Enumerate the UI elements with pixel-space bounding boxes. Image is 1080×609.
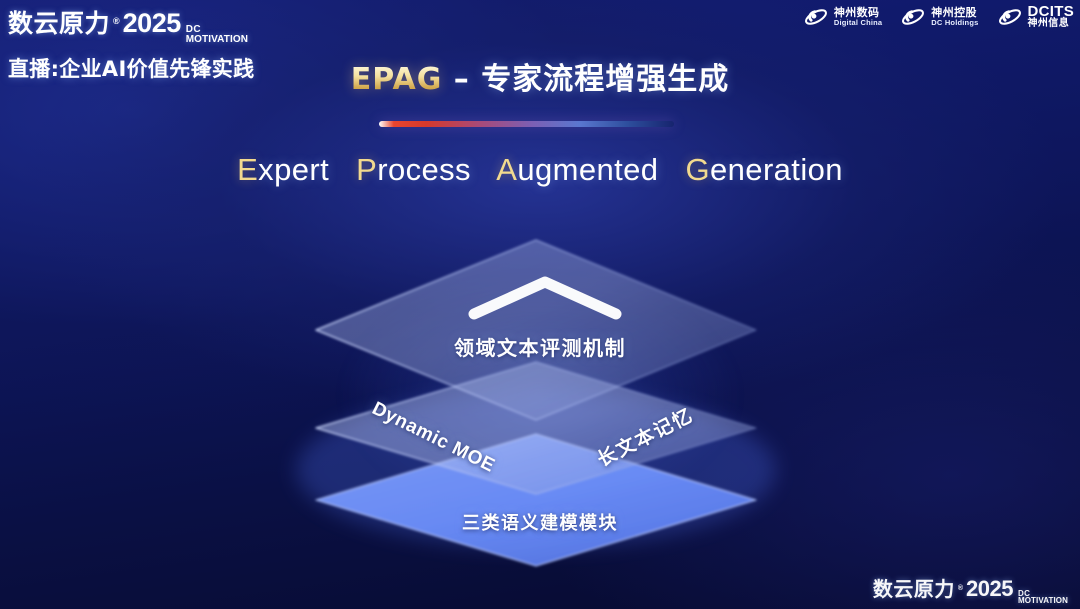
swirl-icon [997,4,1023,30]
brand-year: 2025 [966,576,1013,602]
subtitle-word-augmented: Augmented [496,152,658,187]
brand-name-cn: 数云原力 [873,573,955,602]
subtitle-cap-g: G [686,152,711,187]
layer-bottom[interactable] [316,434,756,566]
layer-bottom-surface [316,434,756,566]
partner-brand-dcits: DCITS [1028,4,1075,19]
title-acronym: EPAG [351,62,443,97]
chevron-up-icon [474,282,616,314]
partner-text: 神州控股 DC Holdings [931,7,978,26]
brand-lockup: 数云原力 ® 2025 DC MOTIVATION [8,4,308,44]
brand-dc-line2: MOTIVATION [186,35,248,45]
title-chinese: 专家流程增强生成 [481,62,729,97]
layer-top[interactable] [316,240,756,420]
partner-name-en: Digital China [834,19,882,27]
partner-name-cn: 神州信息 [1028,19,1075,30]
layer-middle-right-label: 长文本记忆 [592,400,698,472]
subtitle-cap-e: E [237,152,258,187]
subtitle-expansion: Expert Process Augmented Generation [0,152,1080,188]
subtitle-rest-process: rocess [377,152,471,187]
brand-year: 2025 [123,8,181,39]
subtitle-cap-a: A [496,152,517,187]
brand-name-cn: 数云原力 [8,4,110,40]
swirl-icon [803,4,829,30]
layer-bottom-label: 三类语义建模模块 [0,509,1080,535]
swirl-icon [900,4,926,30]
title-dash: – [442,62,481,97]
partner-logo-bar: 神州数码 Digital China 神州控股 DC Holdings [803,4,1074,30]
layer-top-label: 领域文本评测机制 [0,332,1080,361]
partner-text: DCITS 神州信息 [1028,4,1075,30]
brand-dc-motivation: DC MOTIVATION [186,25,248,44]
partner-logo-dcits: DCITS 神州信息 [997,4,1075,30]
space [667,152,676,187]
registered-mark: ® [113,16,120,26]
space [338,152,347,187]
subtitle-cap-p: P [356,152,377,187]
partner-text: 神州数码 Digital China [834,7,882,26]
subtitle-rest-expert: xpert [258,152,329,187]
subtitle-rest-generation: eneration [710,152,843,187]
gradient-divider [379,121,674,127]
partner-logo-digital-china: 神州数码 Digital China [803,4,882,30]
partner-logo-dc-holdings: 神州控股 DC Holdings [900,4,978,30]
brand-dc-line2: MOTIVATION [1018,597,1068,605]
page-title: EPAG – 专家流程增强生成 [0,54,1080,98]
slide-canvas: 数云原力 ® 2025 DC MOTIVATION 直播:企业AI价值先锋实践 … [0,0,1080,609]
subtitle-word-process: Process [356,152,471,187]
partner-name-en: DC Holdings [931,19,978,27]
brand-logo-bottom-right: 数云原力 ® 2025 DC MOTIVATION [873,573,1068,605]
subtitle-word-generation: Generation [686,152,843,187]
subtitle-rest-augmented: ugmented [517,152,658,187]
layer-top-surface [316,240,756,420]
brand-dc-motivation: DC MOTIVATION [1018,590,1068,605]
registered-mark: ® [958,585,963,592]
space [480,152,489,187]
brand-lockup-watermark: 数云原力 ® 2025 DC MOTIVATION [873,573,1068,605]
layer-middle-left-label: Dynamic MOE [368,398,498,478]
subtitle-word-expert: Expert [237,152,329,187]
